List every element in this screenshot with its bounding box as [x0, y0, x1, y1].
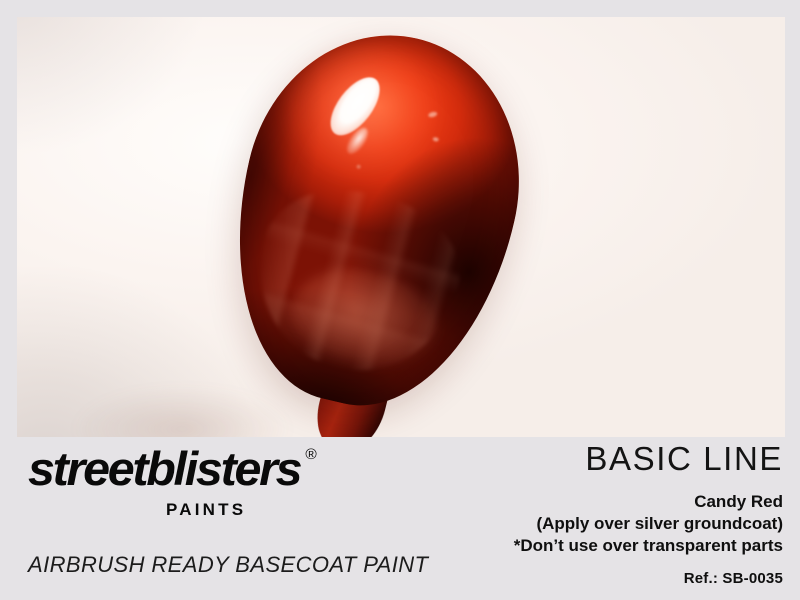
photo-corner-shade-top-left	[17, 17, 207, 157]
product-tagline: AIRBRUSH READY BASECOAT PAINT	[28, 552, 428, 578]
product-detail-warning: *Don’t use over transparent parts	[514, 535, 783, 557]
brand-wordmark: streetblisters ®	[28, 445, 300, 492]
product-reference: Ref.: SB-0035	[684, 570, 783, 587]
brand-wordmark-text: streetblisters	[28, 442, 300, 495]
product-block: BASIC LINE Candy Red (Apply over silver …	[514, 441, 783, 557]
product-detail-application: (Apply over silver groundcoat)	[514, 513, 783, 535]
product-photo	[17, 17, 785, 437]
product-detail-color: Candy Red	[514, 491, 783, 513]
registered-trademark-icon: ®	[305, 447, 316, 462]
info-panel: streetblisters ® PAINTS AIRBRUSH READY B…	[0, 437, 800, 600]
brand-block: streetblisters ® PAINTS	[28, 445, 408, 518]
brand-subtitle: PAINTS	[166, 501, 408, 518]
product-line-name: BASIC LINE	[514, 441, 783, 477]
product-details: Candy Red (Apply over silver groundcoat)…	[514, 491, 783, 557]
product-label-card: streetblisters ® PAINTS AIRBRUSH READY B…	[0, 0, 800, 600]
